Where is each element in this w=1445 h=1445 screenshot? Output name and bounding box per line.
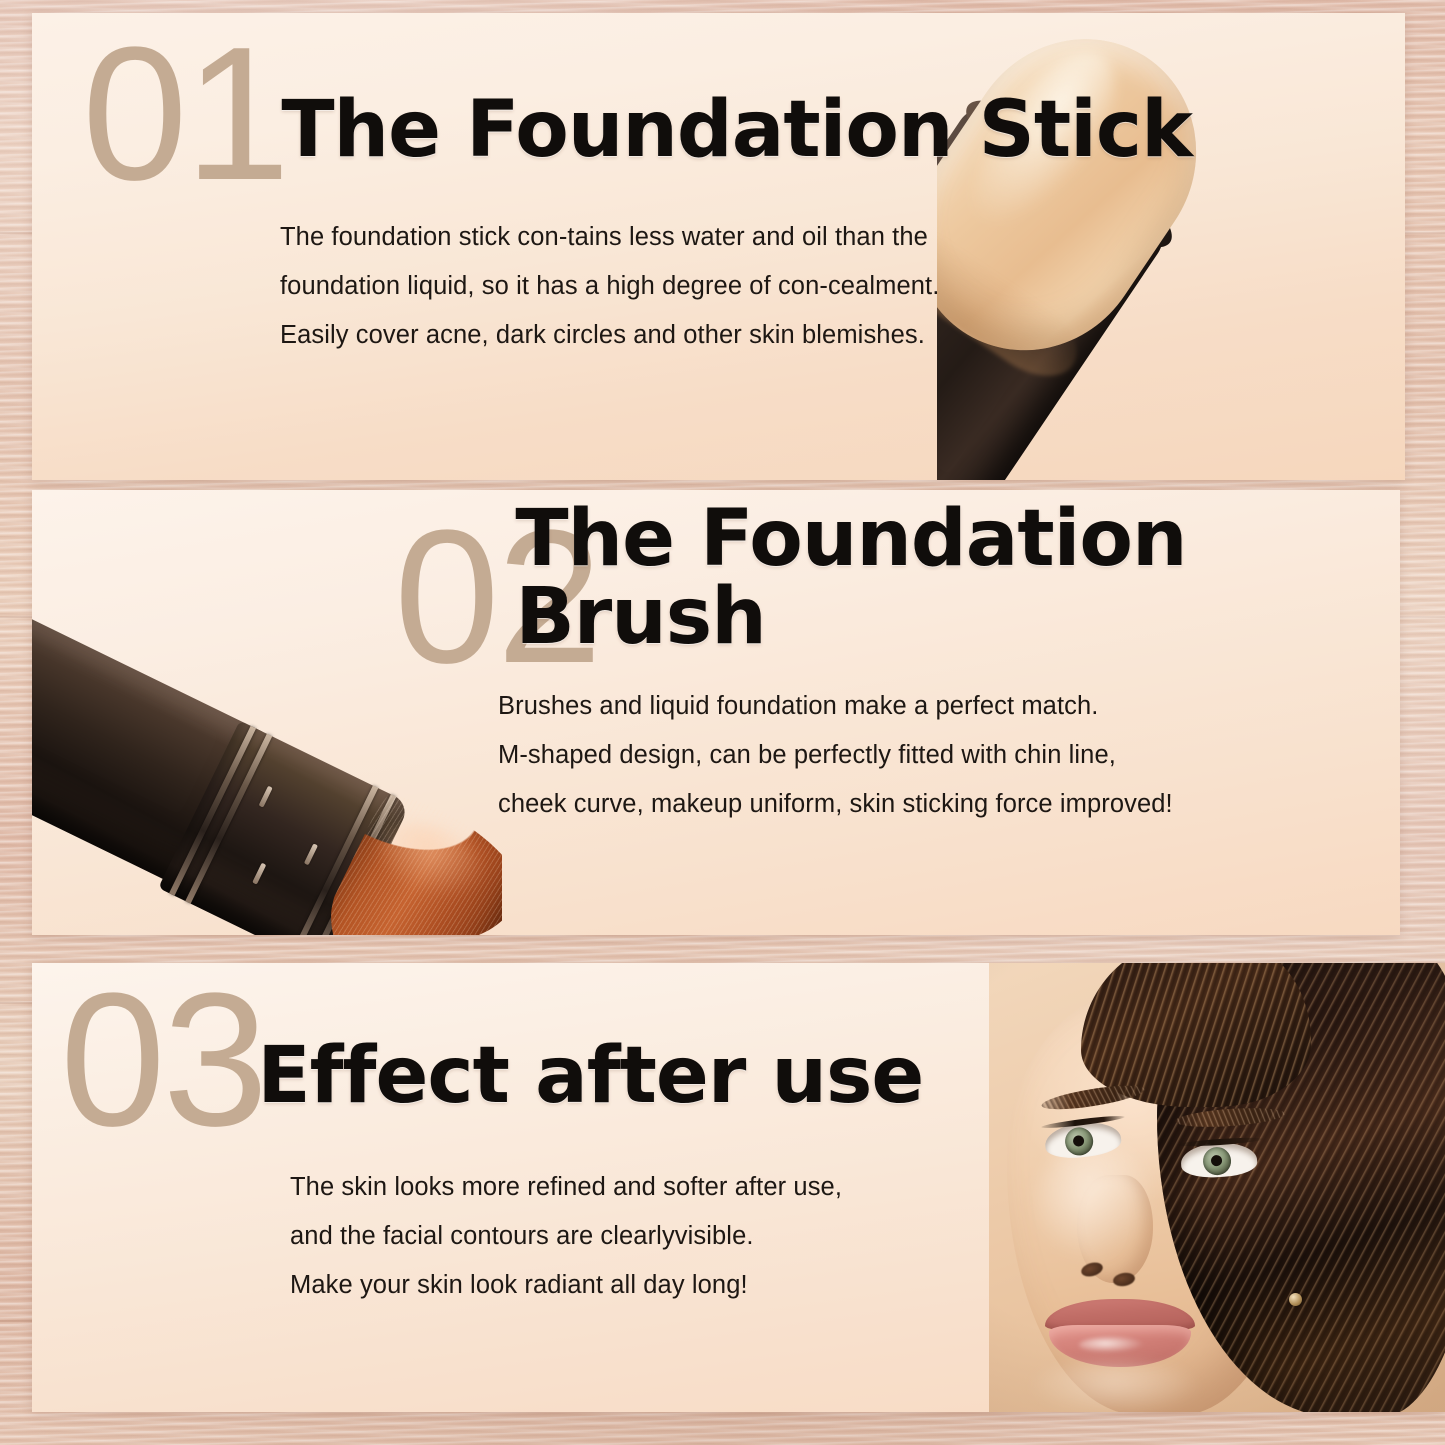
section-card-3: 03 Effect after use The skin looks more … [32,963,1445,1412]
section-1-line-1: The foundation stick con-tains less wate… [280,213,1280,262]
section-card-2: 02 The Foundation Brush Brushes and liqu… [32,490,1400,935]
section-1-body: The foundation stick con-tains less wate… [280,213,1280,360]
section-3-body: The skin looks more refined and softer a… [290,1163,1090,1310]
section-1-line-2: foundation liquid, so it has a high degr… [280,262,1280,311]
section-2-line-1: Brushes and liquid foundation make a per… [498,682,1398,731]
section-2-heading: 02 The Foundation Brush [394,500,1400,678]
section-3-heading: 03 Effect after use [60,981,923,1141]
section-1-title: The Foundation Stick [281,91,1192,169]
section-3-line-3: Make your skin look radiant all day long… [290,1261,1090,1310]
section-1-heading: 01 The Foundation Stick [82,35,1192,195]
section-card-1: 01 The Foundation Stick The foundation s… [32,13,1405,480]
section-2-title: The Foundation Brush [515,500,1400,656]
section-3-line-2: and the facial contours are clearlyvisib… [290,1212,1090,1261]
infographic-page: 01 The Foundation Stick The foundation s… [0,0,1445,1445]
ferrule-notch [259,786,273,808]
section-3-title: Effect after use [257,1037,923,1115]
section-2-line-2: M-shaped design, can be perfectly fitted… [498,731,1398,780]
section-1-line-3: Easily cover acne, dark circles and othe… [280,311,1280,360]
step-number-1: 01 [82,35,287,195]
section-2-line-3: cheek curve, makeup uniform, skin sticki… [498,780,1398,829]
section-2-body: Brushes and liquid foundation make a per… [498,682,1398,829]
ferrule-notch [252,863,266,885]
step-number-3: 03 [60,981,265,1141]
ferrule-notch [304,843,318,865]
section-3-line-1: The skin looks more refined and softer a… [290,1163,1090,1212]
